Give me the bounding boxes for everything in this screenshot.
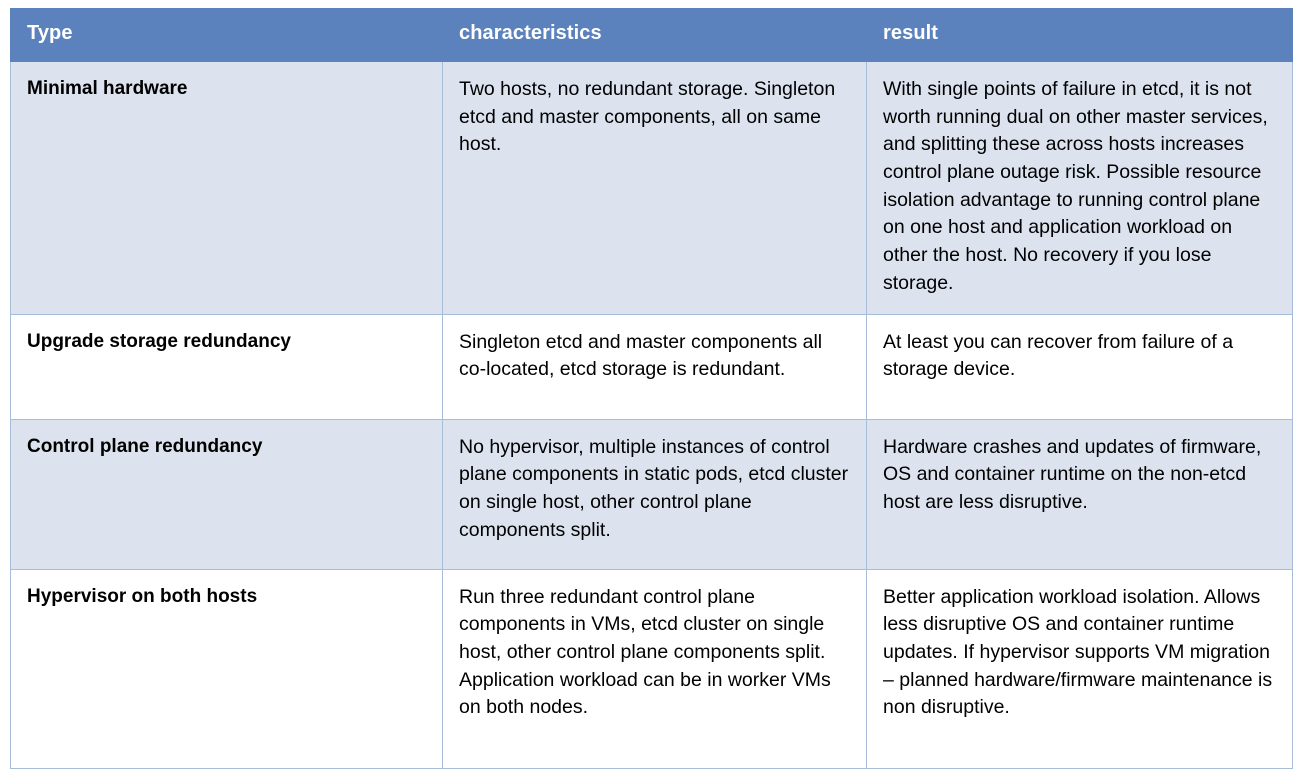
cell-result-text: With single points of failure in etcd, i… <box>883 76 1276 298</box>
table-row: Minimal hardware Two hosts, no redundant… <box>11 62 1293 315</box>
cell-characteristics: Run three redundant control plane compon… <box>443 569 867 768</box>
cell-type-text: Upgrade storage redundancy <box>27 329 426 356</box>
cell-type-text: Control plane redundancy <box>27 434 426 461</box>
cell-characteristics-text: Run three redundant control plane compon… <box>459 584 850 722</box>
cell-type: Minimal hardware <box>11 62 443 315</box>
cell-result: Hardware crashes and updates of firmware… <box>867 419 1293 569</box>
cell-characteristics: Two hosts, no redundant storage. Singlet… <box>443 62 867 315</box>
column-header-characteristics: characteristics <box>443 9 867 62</box>
cell-result: With single points of failure in etcd, i… <box>867 62 1293 315</box>
cell-type: Control plane redundancy <box>11 419 443 569</box>
table-header-row: Type characteristics result <box>11 9 1293 62</box>
cell-type: Hypervisor on both hosts <box>11 569 443 768</box>
cell-type: Upgrade storage redundancy <box>11 314 443 419</box>
cell-result: Better application workload isolation. A… <box>867 569 1293 768</box>
table-row: Control plane redundancy No hypervisor, … <box>11 419 1293 569</box>
table-header: Type characteristics result <box>11 9 1293 62</box>
table-row: Upgrade storage redundancy Singleton etc… <box>11 314 1293 419</box>
comparison-table: Type characteristics result Minimal hard… <box>10 8 1293 769</box>
cell-result-text: Hardware crashes and updates of firmware… <box>883 434 1276 517</box>
column-header-result: result <box>867 9 1293 62</box>
cell-characteristics-text: Singleton etcd and master components all… <box>459 329 850 384</box>
cell-characteristics-text: No hypervisor, multiple instances of con… <box>459 434 850 545</box>
table-row: Hypervisor on both hosts Run three redun… <box>11 569 1293 768</box>
cell-result-text: At least you can recover from failure of… <box>883 329 1276 384</box>
table-body: Minimal hardware Two hosts, no redundant… <box>11 62 1293 769</box>
comparison-table-container: Type characteristics result Minimal hard… <box>10 8 1292 769</box>
cell-characteristics-text: Two hosts, no redundant storage. Singlet… <box>459 76 850 159</box>
cell-type-text: Hypervisor on both hosts <box>27 584 426 611</box>
cell-result: At least you can recover from failure of… <box>867 314 1293 419</box>
cell-result-text: Better application workload isolation. A… <box>883 584 1276 722</box>
cell-characteristics: Singleton etcd and master components all… <box>443 314 867 419</box>
cell-type-text: Minimal hardware <box>27 76 426 103</box>
column-header-type: Type <box>11 9 443 62</box>
cell-characteristics: No hypervisor, multiple instances of con… <box>443 419 867 569</box>
